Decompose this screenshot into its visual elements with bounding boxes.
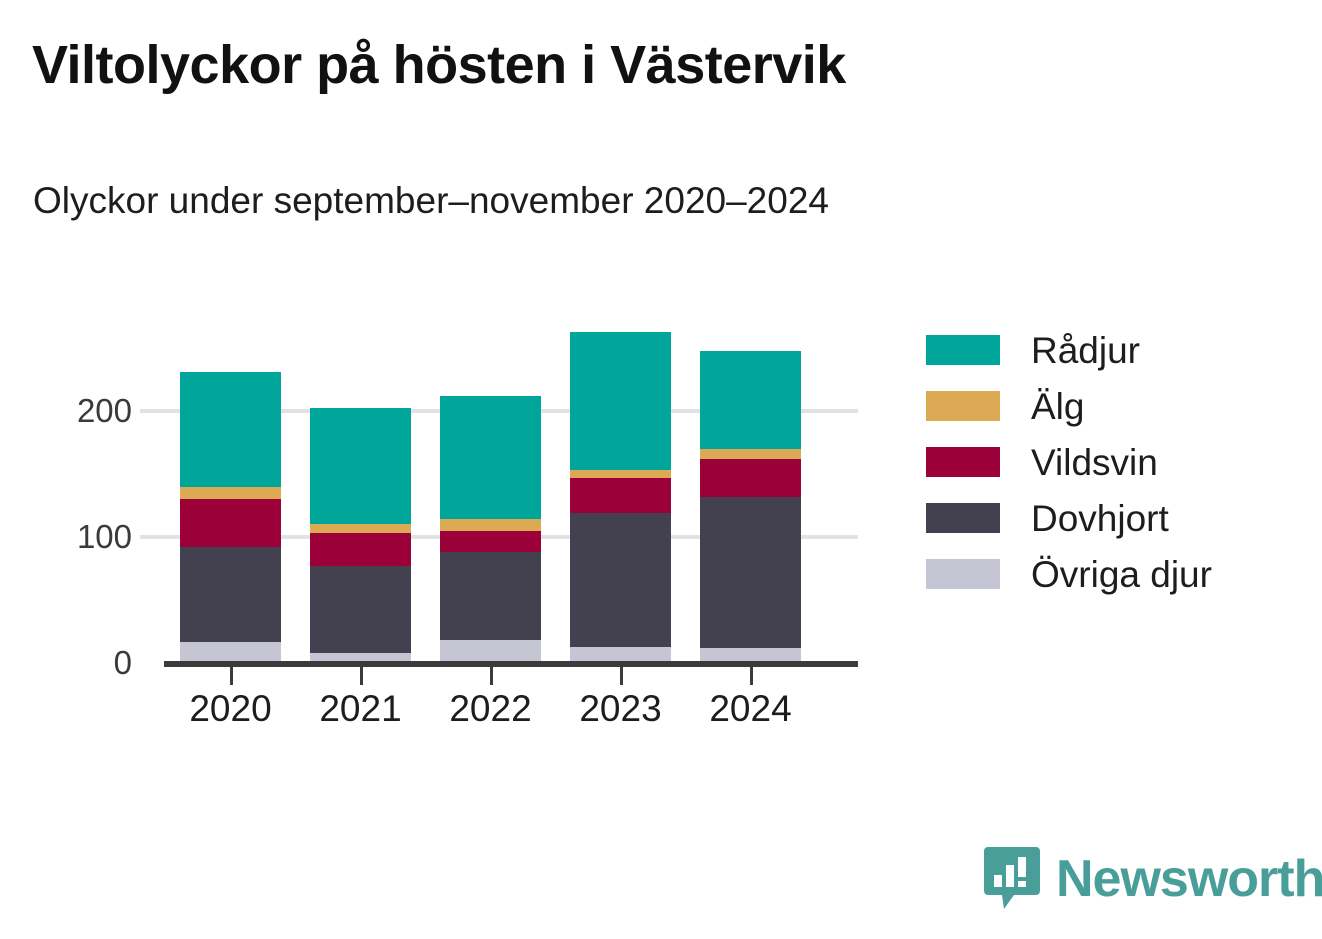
bar-segment-2022-Älg[interactable] (440, 519, 541, 530)
newsworthy-wordmark: Newsworthy (1056, 853, 1322, 905)
bar-segment-2020-Dovhjort[interactable] (180, 547, 281, 642)
x-axis-tick-mark (360, 667, 363, 685)
x-axis-tick-mark (490, 667, 493, 685)
legend-swatch-icon (926, 391, 1000, 421)
legend-label: Övriga djur (1031, 556, 1212, 593)
bar-segment-2021-Rådjur[interactable] (310, 408, 411, 524)
legend-label: Vildsvin (1031, 444, 1158, 481)
bar-group-2023[interactable] (570, 0, 671, 663)
bar-segment-2020-Älg[interactable] (180, 487, 281, 500)
x-axis-tick-mark (750, 667, 753, 685)
x-axis-tick-label-2024: 2024 (671, 688, 831, 730)
bar-segment-2022-Dovhjort[interactable] (440, 552, 541, 640)
legend-label: Dovhjort (1031, 500, 1169, 537)
x-axis-line (164, 661, 858, 667)
bar-segment-2022-Rådjur[interactable] (440, 396, 541, 519)
legend-item-Vildsvin[interactable]: Vildsvin (926, 434, 1306, 490)
chart-legend: RådjurÄlgVildsvinDovhjortÖvriga djur (926, 322, 1306, 602)
legend-swatch-icon (926, 447, 1000, 477)
y-axis-tick-label: 100 (8, 518, 132, 556)
newsworthy-bubble-chart-icon (984, 847, 1040, 911)
bar-segment-2023-Dovhjort[interactable] (570, 513, 671, 647)
bar-segment-2020-Vildsvin[interactable] (180, 499, 281, 547)
y-axis-tick-label: 200 (8, 392, 132, 430)
bar-segment-2021-Dovhjort[interactable] (310, 566, 411, 653)
legend-swatch-icon (926, 335, 1000, 365)
bar-segment-2021-Vildsvin[interactable] (310, 533, 411, 566)
bar-segment-2020-Övriga djur[interactable] (180, 642, 281, 663)
bar-segment-2024-Vildsvin[interactable] (700, 459, 801, 497)
bar-segment-2024-Älg[interactable] (700, 449, 801, 459)
bar-segment-2022-Vildsvin[interactable] (440, 531, 541, 552)
bar-group-2022[interactable] (440, 0, 541, 663)
legend-item-Rådjur[interactable]: Rådjur (926, 322, 1306, 378)
bar-segment-2022-Övriga djur[interactable] (440, 640, 541, 663)
bar-segment-2023-Rådjur[interactable] (570, 332, 671, 471)
newsworthy-logo: Newsworthy (984, 847, 1322, 911)
bar-group-2024[interactable] (700, 0, 801, 663)
legend-label: Älg (1031, 388, 1084, 425)
bar-segment-2023-Älg[interactable] (570, 470, 671, 478)
x-axis-tick-mark (620, 667, 623, 685)
bar-segment-2024-Dovhjort[interactable] (700, 497, 801, 648)
bar-group-2020[interactable] (180, 0, 281, 663)
legend-label: Rådjur (1031, 332, 1140, 369)
bar-group-2021[interactable] (310, 0, 411, 663)
x-axis-tick-mark (230, 667, 233, 685)
legend-item-Älg[interactable]: Älg (926, 378, 1306, 434)
bar-segment-2021-Älg[interactable] (310, 524, 411, 533)
legend-item-Dovhjort[interactable]: Dovhjort (926, 490, 1306, 546)
legend-swatch-icon (926, 559, 1000, 589)
bar-segment-2024-Rådjur[interactable] (700, 351, 801, 449)
y-axis-tick-label: 0 (8, 644, 132, 682)
legend-swatch-icon (926, 503, 1000, 533)
bar-segment-2023-Vildsvin[interactable] (570, 478, 671, 513)
legend-item-Övriga djur[interactable]: Övriga djur (926, 546, 1306, 602)
chart-plot-area: 0100200 20202021202220232024 (0, 0, 900, 760)
bar-segment-2020-Rådjur[interactable] (180, 372, 281, 487)
